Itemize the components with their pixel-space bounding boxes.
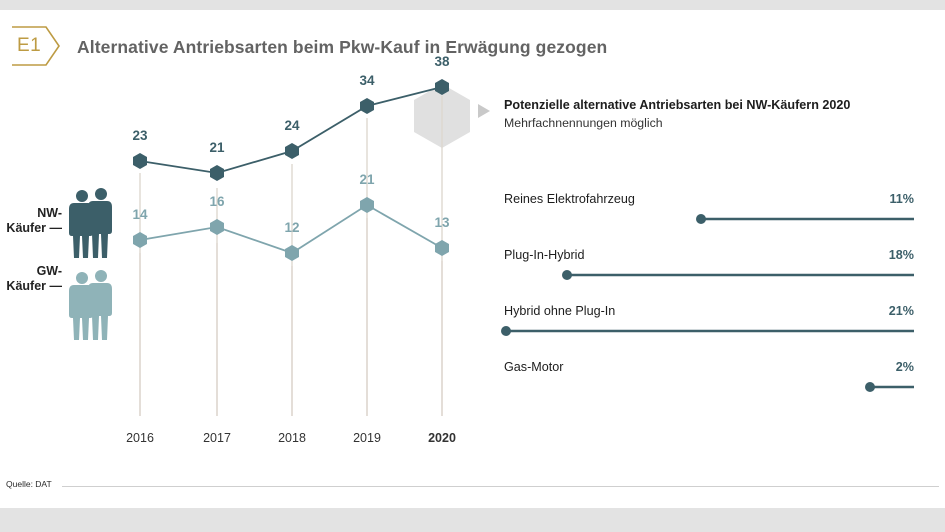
people-pair-nw-icon [69,188,112,258]
series-legend-nw-line2: Käufer — [0,221,62,236]
panel-title: Potenzielle alternative Antriebsarten be… [504,98,850,112]
x-tick-2016: 2016 [113,431,167,445]
value-label-gw-2018: 12 [275,220,309,235]
bar-label: Gas-Motor [504,360,563,374]
source-note: Quelle: DAT [6,479,52,489]
bar-row-reines-elektrofahrzeug: Reines Elektrofahrzeug 11% [462,192,932,238]
bottom-band [0,508,945,532]
chapter-badge-label: E1 [17,34,51,58]
header: E1 Alternative Antriebsarten beim Pkw-Ka… [0,10,945,68]
value-label-nw-2018: 24 [275,118,309,133]
value-label-gw-2019: 21 [350,172,384,187]
bar-row-plug-in-hybrid: Plug-In-Hybrid 18% [462,248,932,294]
people-pair-gw-icon [69,270,112,340]
x-tick-2017: 2017 [190,431,244,445]
value-label-gw-2020: 13 [425,215,459,230]
panel-subtitle: Mehrfachnennungen möglich [504,116,663,130]
bar-value: 2% [896,360,914,374]
bar-row-gas-motor: Gas-Motor 2% [462,360,932,406]
series-legend-gw-line1: GW- [0,264,62,279]
bar-track [462,268,932,282]
bar-row-hybrid-ohne-plug-in: Hybrid ohne Plug-In 21% [462,304,932,350]
bar-track [462,212,932,226]
bar-label: Reines Elektrofahrzeug [504,192,635,206]
source-divider [62,486,939,487]
triangle-pointer-icon [476,102,492,120]
bar-value: 21% [889,304,914,318]
page-title: Alternative Antriebsarten beim Pkw-Kauf … [77,37,607,58]
people-icons [68,186,124,366]
chapter-badge: E1 [8,22,64,70]
bar-value: 18% [889,248,914,262]
value-label-nw-2017: 21 [200,140,234,155]
top-band [0,0,945,10]
value-label-gw-2016: 14 [123,207,157,222]
side-panel: Potenzielle alternative Antriebsarten be… [462,90,932,390]
value-label-gw-2017: 16 [200,194,234,209]
x-tick-2018: 2018 [265,431,319,445]
x-tick-2019: 2019 [340,431,394,445]
bar-track [462,324,932,338]
bar-label: Hybrid ohne Plug-In [504,304,615,318]
bar-value: 11% [889,192,914,206]
value-label-nw-2019: 34 [350,73,384,88]
series-legend-gw-line2: Käufer — [0,279,62,294]
value-label-nw-2016: 23 [123,128,157,143]
x-tick-2020: 2020 [415,431,469,445]
bar-track [462,380,932,394]
series-legend-nw-line1: NW- [0,206,62,221]
bar-label: Plug-In-Hybrid [504,248,585,262]
value-label-nw-2020: 38 [425,54,459,69]
line-chart: 23 21 24 34 38 14 16 12 21 13 NW- Käufer… [0,68,470,468]
